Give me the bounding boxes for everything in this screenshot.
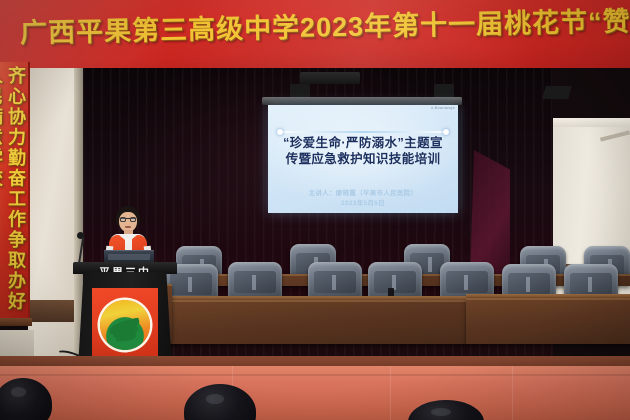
emblem-leaf <box>116 333 136 341</box>
apron-fold-line <box>0 374 630 376</box>
glasses-lens-left <box>120 217 126 222</box>
microphone-head <box>77 232 84 239</box>
screen-title-line-1: “珍爱生命·严防溺水”主题宣 <box>272 135 454 151</box>
hair-highlight <box>11 387 26 396</box>
screen-date-line: 2023年5月5日 <box>272 199 454 209</box>
glasses-lens-right <box>130 217 136 222</box>
left-banner-frame <box>0 318 32 326</box>
screen-presenter-line: 主讲人：廖晓霞（平果市人民医院） <box>272 189 454 199</box>
left-banner-text: 齐心协力勤奋工作争取办好人民满意学校 <box>3 66 27 324</box>
speaker-mouth <box>125 226 131 228</box>
left-vertical-banner: 齐心协力勤奋工作争取办好人民满意学校 <box>0 62 30 324</box>
school-leaf-emblem-icon <box>100 300 150 350</box>
laptop-screen <box>108 254 150 260</box>
top-banner-text: 广西平果第三高级中学2023年第十一届桃花节“赞颂伟大时代， <box>20 1 630 53</box>
front-wood-barrier <box>466 298 630 344</box>
projection-screen-icon: e-Boardways “珍爱生命·严防溺水”主题宣 传暨应急救护知识技能培训 … <box>268 105 458 213</box>
top-banner: 广西平果第三高级中学2023年第十一届桃花节“赞颂伟大时代， <box>0 0 630 68</box>
screen-roller-housing <box>262 97 462 105</box>
right-wall-cornice <box>552 118 630 127</box>
podium-front-panel <box>92 288 158 360</box>
ceiling-mount-bracket <box>300 72 360 84</box>
ceiling-speaker-box <box>542 86 572 99</box>
screen-title-line-2: 传暨应急救护知识技能培训 <box>272 151 454 167</box>
hair-highlight <box>431 408 451 416</box>
screen-title-divider <box>280 131 446 133</box>
apron-seam <box>390 366 391 420</box>
screen-brand-mark: e-Boardways <box>431 106 455 110</box>
apron-seam <box>512 366 513 420</box>
front-wood-barrier <box>166 300 466 344</box>
assembly-hall-photo: e-Boardways “珍爱生命·严防溺水”主题宣 传暨应急救护知识技能培训 … <box>0 0 630 420</box>
left-wall-trim <box>28 300 80 322</box>
hair-highlight <box>206 394 225 404</box>
speaker-face <box>119 212 137 232</box>
auditorium-seating <box>172 244 630 340</box>
